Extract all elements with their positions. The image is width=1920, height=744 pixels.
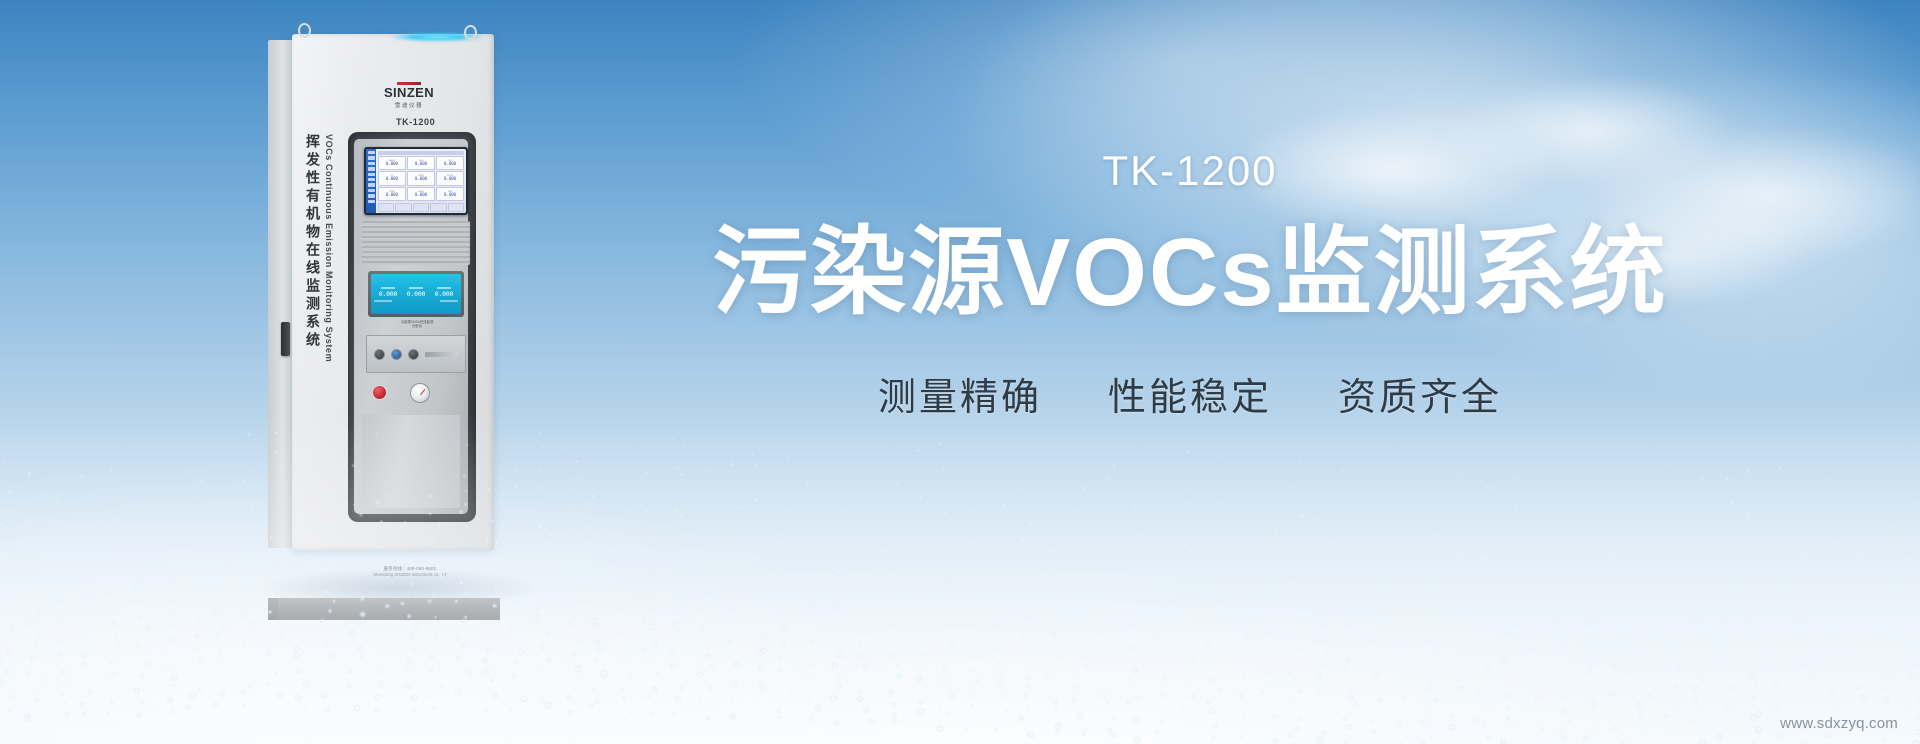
hmi-reading-cell: CH4 0.000 [407, 156, 435, 170]
led-value: 0.000 [407, 290, 426, 298]
hmi-reading-cell: O2 0.000 [378, 171, 406, 185]
hmi-screen: NMHC 0.000 CH4 0.000 THC 0.000 [366, 149, 466, 213]
brand-name: SINZEN [374, 86, 444, 99]
feature-item: 测量精确 [878, 366, 1042, 421]
hmi-reading-value: 0.000 [386, 177, 398, 181]
control-knob-panel [366, 335, 466, 373]
hmi-reading-value: 0.000 [444, 162, 456, 166]
feature-list: 测量精确 性能稳定 资质齐全 [660, 366, 1720, 421]
hmi-reading-cell: PRES 0.000 [378, 187, 406, 201]
product-model-title: TK-1200 [660, 150, 1720, 192]
hmi-reading-value: 0.000 [415, 193, 427, 197]
led-screen: 0.000 0.000 0.000 [371, 274, 461, 314]
cabinet-service-label: 服务热线：400-060-9800 Shandong SINZEN Instru… [340, 566, 480, 578]
led-footer-marks [374, 300, 458, 302]
page-title: 污染源VOCs监测系统 [660, 222, 1720, 324]
cabinet-model-plate: TK-1200 [396, 117, 435, 127]
hmi-reading-cell: THC 0.000 [436, 156, 464, 170]
product-banner: SINZEN 雪迪仪器 TK-1200 挥发性有机物在线监测系统 VOCs Co… [0, 0, 1920, 744]
cabinet-side-panel [268, 40, 294, 548]
hmi-reading-value: 0.000 [444, 193, 456, 197]
hmi-reading-cell: TEMP 0.000 [407, 171, 435, 185]
cabinet-lower-blank-panel [362, 415, 460, 508]
led-caption-line-2: 分析仪 [382, 324, 452, 328]
pressure-gauge-icon [410, 383, 430, 403]
lifting-ring-icon [464, 25, 477, 40]
cabinet-brand-logo: SINZEN 雪迪仪器 [374, 82, 444, 109]
panel-strip [425, 352, 458, 357]
cabinet-vent-louvers [362, 221, 470, 265]
hmi-reading-value: 0.000 [415, 177, 427, 181]
led-header-marks [374, 287, 458, 289]
hmi-touchscreen: NMHC 0.000 CH4 0.000 THC 0.000 [364, 147, 468, 215]
cabinet-vertical-chinese-text: 挥发性有机物在线监测系统 [298, 134, 320, 350]
cabinet-door: NMHC 0.000 CH4 0.000 THC 0.000 [348, 132, 476, 522]
feature-item: 性能稳定 [1108, 366, 1272, 421]
hmi-content: NMHC 0.000 CH4 0.000 THC 0.000 [376, 149, 466, 213]
feature-item: 资质齐全 [1338, 366, 1502, 421]
site-watermark: www.sdxzyq.com [1780, 715, 1898, 732]
hmi-title-bar [378, 151, 464, 155]
banner-copy-block: TK-1200 污染源VOCs监测系统 测量精确 性能稳定 资质齐全 [660, 150, 1720, 421]
led-caption: 污染源VOCs在线监测 分析仪 [382, 320, 452, 329]
hmi-reading-cell: HUMI 0.000 [407, 187, 435, 201]
emergency-stop-button-icon [372, 385, 387, 400]
control-knob-icon [391, 349, 402, 360]
hmi-reading-cell: STAT 0.000 [436, 187, 464, 201]
hmi-reading-value: 0.000 [444, 177, 456, 181]
cabinet-base-plinth [274, 598, 500, 620]
hmi-reading-cell: NMHC 0.000 [378, 156, 406, 170]
hmi-reading-value: 0.000 [386, 162, 398, 166]
hmi-button-bar [378, 203, 464, 212]
cabinet-door-handle [281, 322, 290, 356]
cabinet-door-inner-panel: NMHC 0.000 CH4 0.000 THC 0.000 [354, 139, 468, 514]
brand-subtitle: 雪迪仪器 [374, 101, 444, 109]
product-cabinet: SINZEN 雪迪仪器 TK-1200 挥发性有机物在线监测系统 VOCs Co… [268, 22, 508, 602]
cabinet-top-glow [378, 32, 496, 42]
cabinet-vertical-english-text: VOCs Continuous Emission Monitoring Syst… [324, 134, 334, 362]
company-name-en: Shandong SINZEN Instrument co., LT [340, 572, 480, 578]
hmi-side-menu [366, 149, 376, 213]
control-knob-icon [408, 349, 419, 360]
led-value: 0.000 [435, 290, 454, 298]
led-analyzer-display: 0.000 0.000 0.000 [368, 271, 464, 317]
led-value: 0.000 [379, 290, 398, 298]
led-value-row: 0.000 0.000 0.000 [374, 290, 458, 298]
lifting-ring-icon [298, 23, 311, 38]
hmi-reading-value: 0.000 [415, 162, 427, 166]
hmi-reading-cell: FLOW 0.000 [436, 171, 464, 185]
control-knob-icon [374, 349, 385, 360]
hmi-reading-value: 0.000 [386, 193, 398, 197]
hmi-reading-grid: NMHC 0.000 CH4 0.000 THC 0.000 [378, 156, 464, 201]
